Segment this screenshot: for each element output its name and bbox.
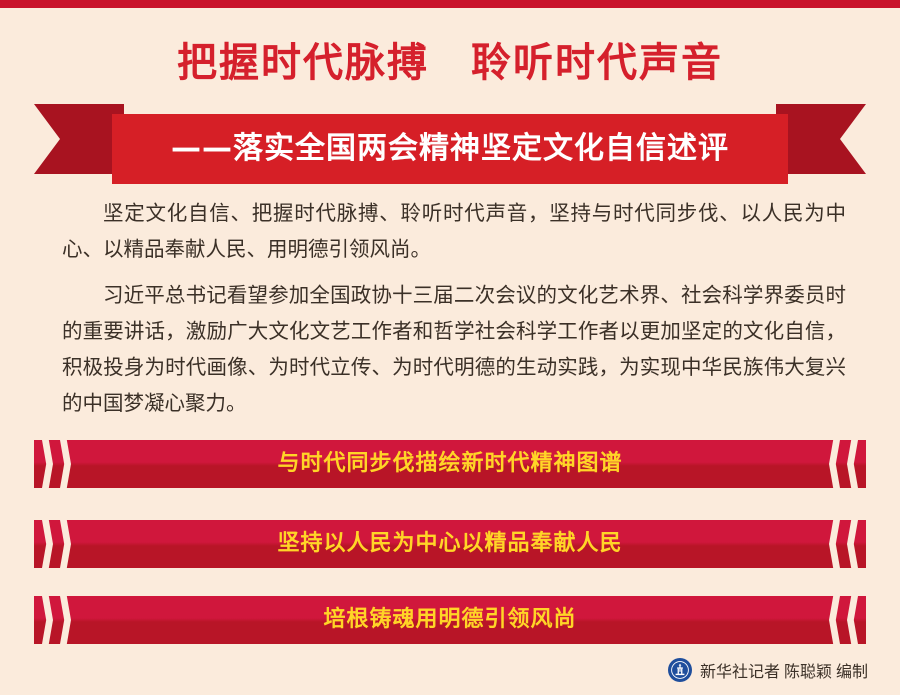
subtitle-ribbon: ——落实全国两会精神坚定文化自信述评 bbox=[0, 104, 900, 184]
chevron-right-icon bbox=[60, 520, 71, 568]
chevron-right-icon bbox=[42, 520, 53, 568]
chevron-left-icon bbox=[847, 596, 858, 644]
ribbon-tail-left bbox=[34, 104, 124, 174]
section-banner-label-1: 与时代同步伐描绘新时代精神图谱 bbox=[94, 440, 806, 488]
section-banner-1: 与时代同步伐描绘新时代精神图谱 bbox=[34, 440, 866, 488]
chevron-right-icon bbox=[60, 596, 71, 644]
body-paragraph-2: 习近平总书记看望参加全国政协十三届二次会议的文化艺术界、社会科学界委员时的重要讲… bbox=[62, 278, 846, 422]
chevron-left-icon bbox=[847, 520, 858, 568]
article-body: 坚定文化自信、把握时代脉搏、聆听时代声音，坚持与时代同步伐、以人民为中心、以精品… bbox=[62, 196, 846, 432]
footer-credit-text: 新华社记者 陈聪颖 编制 bbox=[700, 658, 868, 682]
chevron-right-icon bbox=[42, 596, 53, 644]
chevron-left-icon bbox=[847, 440, 858, 488]
ribbon-tail-right bbox=[776, 104, 866, 174]
top-accent-rule bbox=[0, 0, 900, 8]
footer-credit: 新华社记者 陈聪颖 编制 bbox=[668, 656, 868, 684]
chevron-left-icon bbox=[829, 520, 840, 568]
xinhua-logo-icon bbox=[668, 658, 692, 682]
chevron-left-icon bbox=[829, 440, 840, 488]
section-banner-label-2: 坚持以人民为中心以精品奉献人民 bbox=[94, 520, 806, 568]
section-banner-label-3: 培根铸魂用明德引领风尚 bbox=[94, 596, 806, 644]
page-subtitle: ——落实全国两会精神坚定文化自信述评 bbox=[112, 114, 788, 184]
chevron-right-icon bbox=[42, 440, 53, 488]
section-banner-2: 坚持以人民为中心以精品奉献人民 bbox=[34, 520, 866, 568]
chevron-left-icon bbox=[829, 596, 840, 644]
page-title: 把握时代脉搏 聆听时代声音 bbox=[0, 30, 900, 88]
chevron-right-icon bbox=[60, 440, 71, 488]
section-banner-3: 培根铸魂用明德引领风尚 bbox=[34, 596, 866, 644]
body-paragraph-1: 坚定文化自信、把握时代脉搏、聆听时代声音，坚持与时代同步伐、以人民为中心、以精品… bbox=[62, 196, 846, 268]
